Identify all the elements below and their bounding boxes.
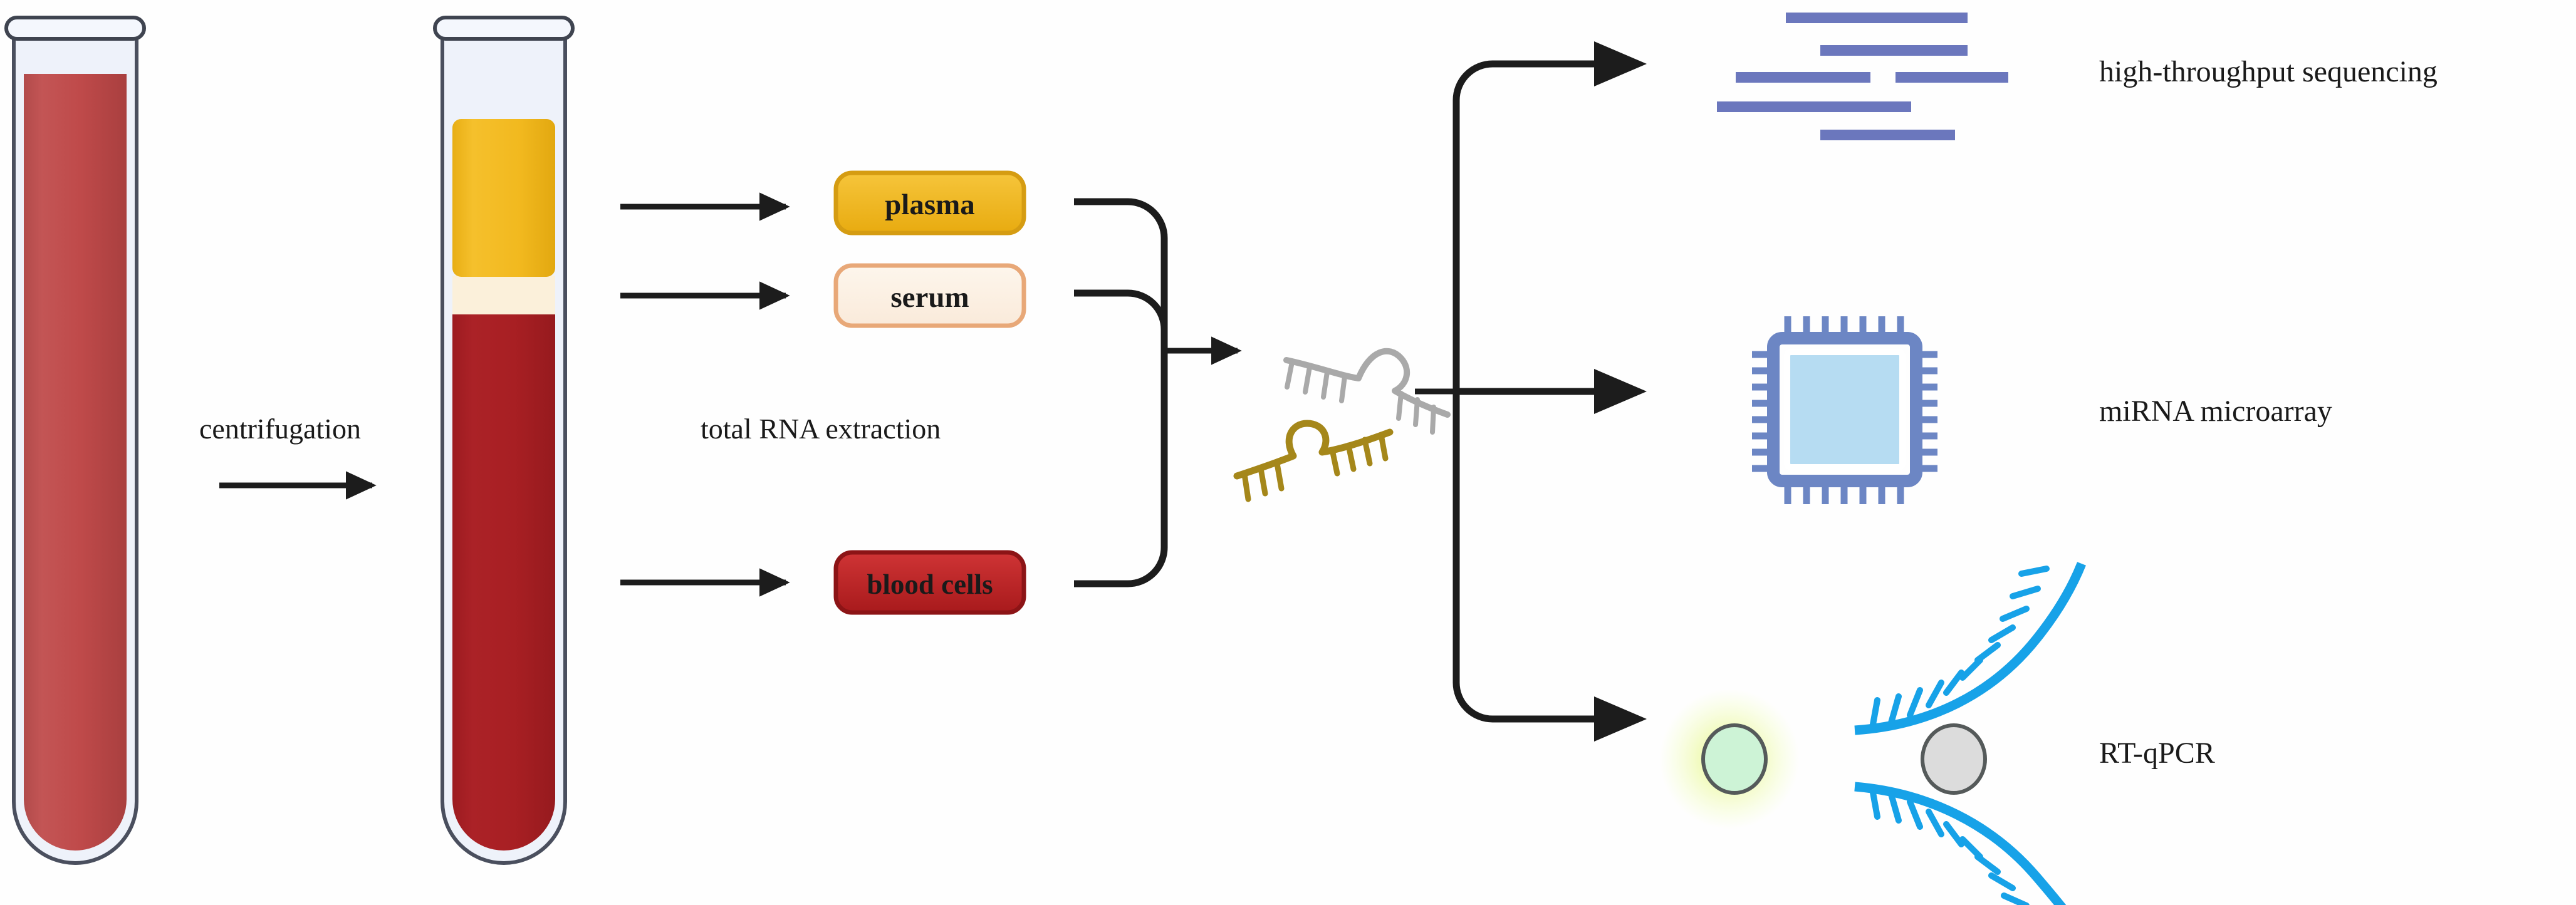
taqman-probe-icon	[1659, 564, 2082, 905]
blood-cells-pill-label: blood cells	[867, 569, 993, 600]
seq-read-bar	[1895, 72, 2008, 83]
fraction-serum[interactable]: serum	[836, 266, 1024, 326]
arrow-head-microarray	[1594, 369, 1647, 414]
serum-pill-label: serum	[890, 281, 969, 314]
packed-cells-layer	[452, 313, 555, 851]
merge-branch-serum	[1074, 293, 1164, 351]
tube-rim	[435, 18, 573, 39]
centrifugation-label: centrifugation	[199, 413, 361, 445]
platform-label-microarray: miRNA microarray	[2099, 395, 2332, 428]
reporter-dye	[1703, 725, 1766, 793]
dna-strand-upper	[1855, 564, 2082, 730]
merge-branch-blood-cells	[1074, 351, 1164, 584]
platform-label-sequencing: high-throughput sequencing	[2099, 55, 2438, 88]
merge-branch-plasma	[1074, 202, 1164, 351]
dna-strand-lower	[1855, 787, 2074, 905]
fraction-arrows	[620, 207, 786, 582]
chip-die	[1787, 352, 1902, 467]
microchip-icon	[1752, 316, 1937, 504]
rna-extraction-label: total RNA extraction	[701, 413, 941, 445]
platform-label-rtqpcr: RT-qPCR	[2099, 737, 2215, 770]
split-branch-sequencing	[1456, 64, 1598, 391]
seq-read-bar	[1736, 72, 1870, 83]
fraction-blood-cells[interactable]: blood cells	[836, 552, 1024, 613]
merge-bracket	[1074, 202, 1238, 584]
arrow-head-sequencing	[1594, 41, 1647, 86]
plasma-pill-label: plasma	[885, 189, 975, 221]
split-branch-rtqpcr	[1456, 391, 1598, 719]
whole-blood-tube	[6, 18, 144, 863]
tube-rim	[6, 18, 144, 39]
quencher-dye	[1922, 725, 1985, 793]
seq-read-bar	[1786, 13, 1968, 23]
seq-read-bar	[1820, 45, 1968, 56]
seq-read-bar	[1717, 101, 1911, 112]
seq-read-bar	[1820, 130, 1955, 140]
fraction-plasma[interactable]: plasma	[836, 173, 1024, 233]
centrifugation-step: centrifugation	[199, 413, 372, 485]
buffy-coat-layer	[452, 276, 555, 314]
arrow-head-rtqpcr	[1594, 696, 1647, 742]
whole-blood-liquid	[24, 74, 127, 851]
centrifuged-blood-tube	[435, 18, 573, 863]
mirna-gold-icon	[1237, 423, 1390, 499]
split-bracket	[1415, 41, 1647, 742]
plasma-layer	[452, 119, 555, 277]
sequencing-reads-icon	[1717, 13, 2008, 140]
figure-canvas: centrifugation plasma serum	[0, 0, 2576, 905]
workflow-diagram: centrifugation plasma serum	[0, 0, 2576, 905]
